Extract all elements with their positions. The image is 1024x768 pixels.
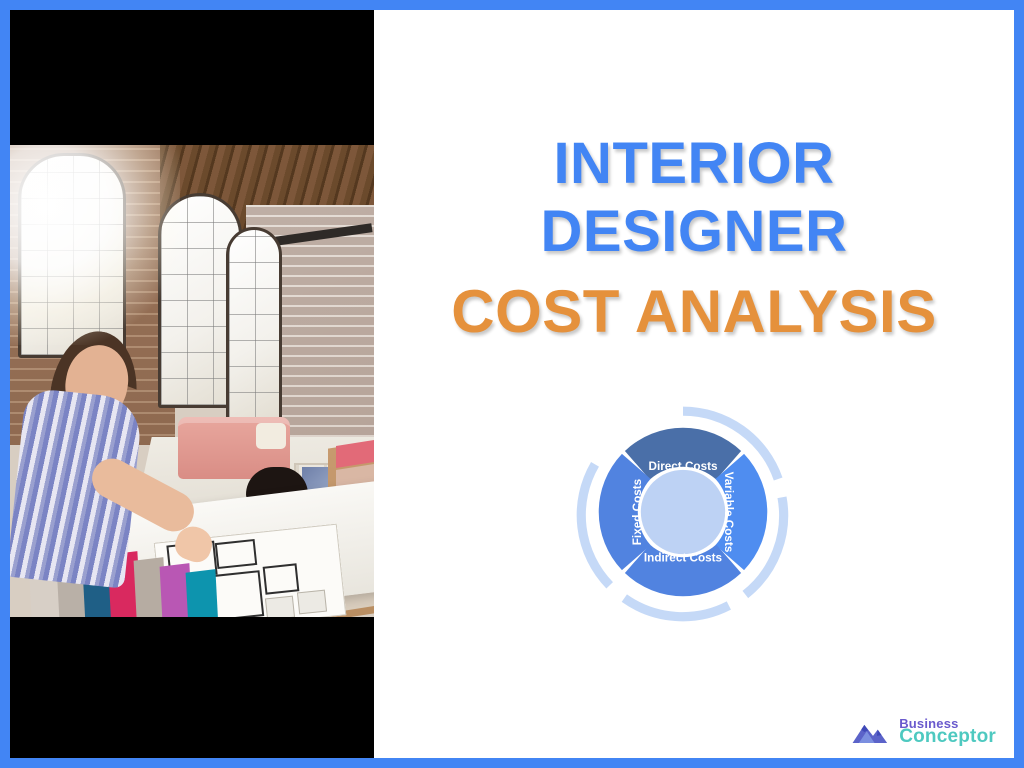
color-swatch-decor bbox=[186, 569, 221, 617]
photo-panel bbox=[10, 10, 374, 758]
floor-plan-tile-decor bbox=[265, 596, 295, 617]
donut-center-hub bbox=[641, 470, 725, 554]
studio-photo bbox=[10, 145, 374, 617]
sofa-cushion-decor bbox=[256, 423, 286, 449]
slide-frame: INTERIOR DESIGNER COST ANALYSIS bbox=[0, 0, 1024, 768]
donut-label-direct-costs: Direct Costs bbox=[648, 460, 718, 473]
page-title: INTERIOR DESIGNER COST ANALYSIS bbox=[374, 130, 1014, 348]
donut-label-fixed-costs: Fixed Costs bbox=[631, 478, 644, 545]
donut-chart-svg: Direct Costs Variable Costs Indirect Cos… bbox=[568, 402, 798, 622]
title-line-interior: INTERIOR bbox=[388, 130, 1000, 198]
floor-plan-room-decor bbox=[215, 539, 257, 569]
cost-category-donut-chart: Direct Costs Variable Costs Indirect Cos… bbox=[568, 402, 798, 622]
sunlight-glow-decor bbox=[10, 145, 180, 345]
donut-label-variable-costs: Variable Costs bbox=[722, 472, 735, 553]
brand-logo[interactable]: Business Conceptor bbox=[851, 717, 996, 746]
content-panel: INTERIOR DESIGNER COST ANALYSIS bbox=[374, 10, 1014, 758]
title-line-designer: DESIGNER bbox=[388, 198, 1000, 266]
floor-plan-room-decor bbox=[263, 563, 300, 594]
brand-wordmark: Business Conceptor bbox=[899, 717, 996, 746]
title-line-cost-analysis: COST ANALYSIS bbox=[388, 277, 1000, 348]
donut-label-indirect-costs: Indirect Costs bbox=[644, 552, 723, 565]
arched-window-icon bbox=[226, 227, 282, 422]
floor-plan-tile-decor bbox=[297, 590, 327, 615]
slide-canvas: INTERIOR DESIGNER COST ANALYSIS bbox=[10, 10, 1014, 758]
outer-ring-arc bbox=[624, 598, 729, 617]
mountain-icon bbox=[851, 718, 895, 746]
brand-word-conceptor: Conceptor bbox=[899, 727, 996, 746]
